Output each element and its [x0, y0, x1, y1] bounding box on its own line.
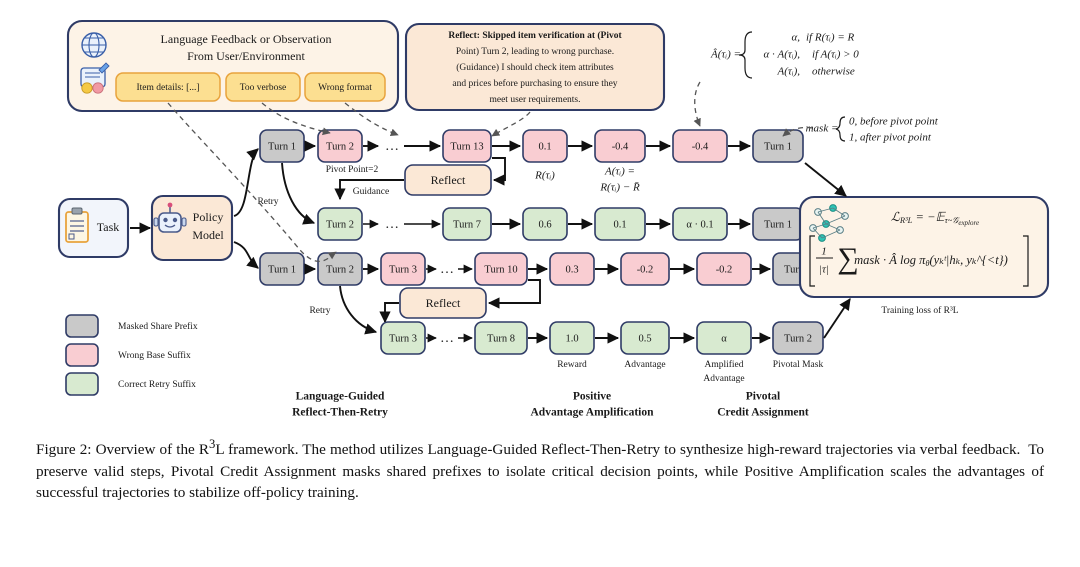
reflect-text-line2: Point) Turn 2, leading to wrong purchase… — [456, 46, 614, 57]
row-retry-trajectory-2: Turn 3 … Turn 8 1.0 0.5 α Turn 2 — [381, 322, 823, 354]
node-r2c2-label: Turn 7 — [453, 219, 481, 230]
retry-label-2: Retry — [309, 306, 330, 316]
loss-caption: Training loss of R³L — [881, 305, 958, 316]
reflect-text-line4: and prices before purchasing to ensure t… — [452, 78, 617, 89]
node-r3c2: Turn 3 — [381, 253, 425, 285]
col-label-amplified-2: Advantage — [703, 374, 744, 384]
node-r2c3-label: 0.6 — [538, 219, 551, 230]
mask-equation: mask = 0, before pivot point 1, after pi… — [806, 116, 939, 144]
loss-frac-denominator: |τ| — [819, 264, 829, 276]
amplify-case3-a: A(τᵢ), — [777, 66, 801, 78]
node-r1c4-label: 0.1 — [538, 141, 551, 152]
reflect-node-2: Reflect — [400, 288, 486, 318]
node-r1c3: Turn 13 — [443, 130, 491, 162]
amplify-lhs: Â(τᵢ) = — [710, 49, 741, 61]
node-r2c5: α · 0.1 — [673, 208, 727, 240]
node-r4c0-label: Turn 3 — [389, 333, 417, 344]
node-r3c6: -0.2 — [621, 253, 669, 285]
node-r2c4: 0.1 — [595, 208, 645, 240]
node-r3c3-ellipsis: … — [440, 262, 454, 277]
reward-formula-label: R(τᵢ) — [534, 170, 555, 182]
policy-label-line2: Model — [192, 228, 224, 242]
node-r1c6-label: -0.4 — [692, 141, 709, 152]
node-r3c1: Turn 2 — [318, 253, 362, 285]
node-r3c1-label: Turn 2 — [326, 264, 354, 275]
node-r3c5-label: 0.3 — [565, 264, 578, 275]
clipboard-task-icon — [66, 208, 88, 242]
node-r2c6-label: Turn 1 — [764, 219, 792, 230]
node-r1c0-label: Turn 1 — [268, 141, 296, 152]
node-r1c2-ellipsis: … — [385, 139, 399, 154]
feedback-chip-0[interactable]: Item details: [...] — [116, 73, 220, 101]
node-r2c5-label: α · 0.1 — [686, 219, 713, 230]
node-r1c5-label: -0.4 — [612, 141, 629, 152]
reflect-text-line1: Reflect: Skipped item verification at (P… — [448, 30, 622, 41]
node-r3c6-label: -0.2 — [637, 264, 654, 275]
feedback-chip-1-label: Too verbose — [240, 83, 287, 93]
to-loss-arrow-1 — [805, 163, 846, 196]
row-base-trajectory-2: Turn 1 Turn 2 Turn 3 … Turn 10 0.3 -0.2 — [260, 253, 840, 285]
feedback-chip-2-label: Wrong format — [318, 82, 372, 93]
amplify-case1-a: α, — [791, 32, 800, 44]
amplify-case1-b: if R(τᵢ) = R — [806, 32, 855, 44]
figure-caption-prefix: Figure 2: — [36, 441, 92, 458]
pivot-point-label: Pivot Point=2 — [326, 165, 379, 175]
node-r2c3: 0.6 — [523, 208, 567, 240]
figure-root: Language Feedback or Observation From Us… — [0, 0, 1080, 567]
amplify-case3-b: otherwise — [812, 66, 855, 78]
retry-arrow-1 — [282, 163, 314, 223]
reflect1-in-arrow — [492, 158, 505, 180]
node-r1c0: Turn 1 — [260, 130, 304, 162]
node-r1c7: Turn 1 — [753, 130, 803, 162]
guidance-label: Guidance — [353, 187, 389, 197]
policy-model-node: Policy Model — [152, 196, 232, 260]
col-label-amplified-1: Amplified — [704, 359, 743, 370]
node-r1c3-label: Turn 13 — [450, 141, 483, 152]
node-r3c0-label: Turn 1 — [268, 264, 296, 275]
node-r4c5: α — [697, 322, 751, 354]
node-r2c1-ellipsis: … — [385, 217, 399, 232]
feedback-chip-2[interactable]: Wrong format — [305, 73, 385, 101]
loss-frac-numerator: 1 — [821, 246, 827, 258]
reflect-text-line5: meet user requirements. — [489, 95, 580, 105]
amplify-eq-link — [695, 82, 700, 126]
node-r3c4-label: Turn 10 — [484, 264, 517, 275]
training-loss-panel: ℒR³L = −𝔼τ~𝒢explore 1 |τ| ∑ mask · Â log… — [800, 197, 1048, 297]
reflect2-out-arrow — [385, 303, 399, 322]
policy-branch-up — [234, 149, 258, 216]
node-r4c0: Turn 3 — [381, 322, 425, 354]
node-r4c6: Turn 2 — [773, 322, 823, 354]
globe-icon — [82, 33, 106, 57]
policy-label-line1: Policy — [193, 210, 224, 224]
mask-lhs: mask = — [806, 123, 839, 135]
figure-caption: Figure 2: Overview of the R3L framework.… — [36, 436, 1044, 504]
node-r4c1-ellipsis: … — [440, 331, 454, 346]
node-r4c4: 0.5 — [621, 322, 669, 354]
col-label-pivotal-mask: Pivotal Mask — [773, 360, 824, 370]
node-r3c0: Turn 1 — [260, 253, 304, 285]
node-r4c2-label: Turn 8 — [487, 333, 515, 344]
task-node: Task — [59, 199, 128, 257]
feedback-panel: Language Feedback or Observation From Us… — [68, 21, 398, 111]
feedback-title-line1: Language Feedback or Observation — [161, 32, 332, 46]
node-r4c3-label: 1.0 — [565, 333, 578, 344]
node-r3c7-label: -0.2 — [716, 264, 733, 275]
framework-diagram: Language Feedback or Observation From Us… — [0, 0, 1080, 430]
node-r3c2-label: Turn 3 — [389, 264, 417, 275]
to-loss-arrow-2 — [824, 299, 850, 338]
advantage-formula-line1: A(τᵢ) = — [604, 166, 635, 178]
node-r4c5-label: α — [721, 333, 727, 344]
mask-case2: 1, after pivot point — [849, 132, 932, 144]
amplify-case2-a: α · A(τᵢ), — [764, 49, 801, 61]
node-r2c0-label: Turn 2 — [326, 219, 354, 230]
reflect-node-1: Reflect — [405, 165, 491, 195]
row-base-trajectory-1: Turn 1 Turn 2 … Turn 13 0.1 -0.4 -0.4 — [260, 130, 803, 162]
mask-case1: 0, before pivot point — [849, 116, 939, 128]
node-r1c7-label: Turn 1 — [764, 141, 792, 152]
reflect-text-line3: (Guidance) I should check item attribute… — [456, 62, 614, 73]
loss-body: mask · Â log πθ(yₖᵗ|hₖ, yₖ^{<t}) — [854, 253, 1008, 268]
feedback-chip-0-label: Item details: [...] — [136, 83, 199, 93]
node-r3c5: 0.3 — [550, 253, 594, 285]
node-r1c1: Turn 2 — [318, 130, 362, 162]
node-r3c4: Turn 10 — [475, 253, 527, 285]
advantage-formula-line2: R(τᵢ) − R̄ — [599, 182, 640, 194]
node-r4c3: 1.0 — [550, 322, 594, 354]
node-r1c5: -0.4 — [595, 130, 645, 162]
retry-arrow-2 — [340, 286, 376, 332]
node-r4c6-label: Turn 2 — [784, 333, 812, 344]
feedback-chip-1[interactable]: Too verbose — [226, 73, 300, 101]
node-r1c4: 0.1 — [523, 130, 567, 162]
row-retry-trajectory-1: Turn 2 … Turn 7 0.6 0.1 α · 0.1 Turn 1 — [318, 208, 824, 240]
amplify-case2-b: if A(τᵢ) > 0 — [812, 49, 859, 61]
feedback-title-line2: From User/Environment — [187, 49, 305, 63]
node-r4c4-label: 0.5 — [638, 333, 651, 344]
amplified-advantage-equation: Â(τᵢ) = α, if R(τᵢ) = R α · A(τᵢ), if A(… — [710, 32, 859, 78]
node-r4c2: Turn 8 — [475, 322, 527, 354]
node-r1c1-label: Turn 2 — [326, 141, 354, 152]
node-r2c4-label: 0.1 — [613, 219, 626, 230]
node-r2c6: Turn 1 — [753, 208, 803, 240]
policy-branch-down — [234, 242, 258, 268]
col-label-advantage: Advantage — [624, 360, 665, 370]
node-r2c0: Turn 2 — [318, 208, 362, 240]
reflect-explanation-panel: Reflect: Skipped item verification at (P… — [406, 24, 664, 110]
reflect-node-2-label: Reflect — [426, 296, 461, 310]
node-r2c2: Turn 7 — [443, 208, 491, 240]
reflect-node-1-label: Reflect — [431, 173, 466, 187]
retry-label-1: Retry — [257, 197, 278, 207]
col-label-reward: Reward — [557, 360, 587, 370]
node-r3c7: -0.2 — [697, 253, 751, 285]
figure-caption-text: Overview of the R3L framework. The metho… — [36, 441, 1044, 501]
node-r1c6: -0.4 — [673, 130, 727, 162]
task-label: Task — [97, 220, 120, 234]
